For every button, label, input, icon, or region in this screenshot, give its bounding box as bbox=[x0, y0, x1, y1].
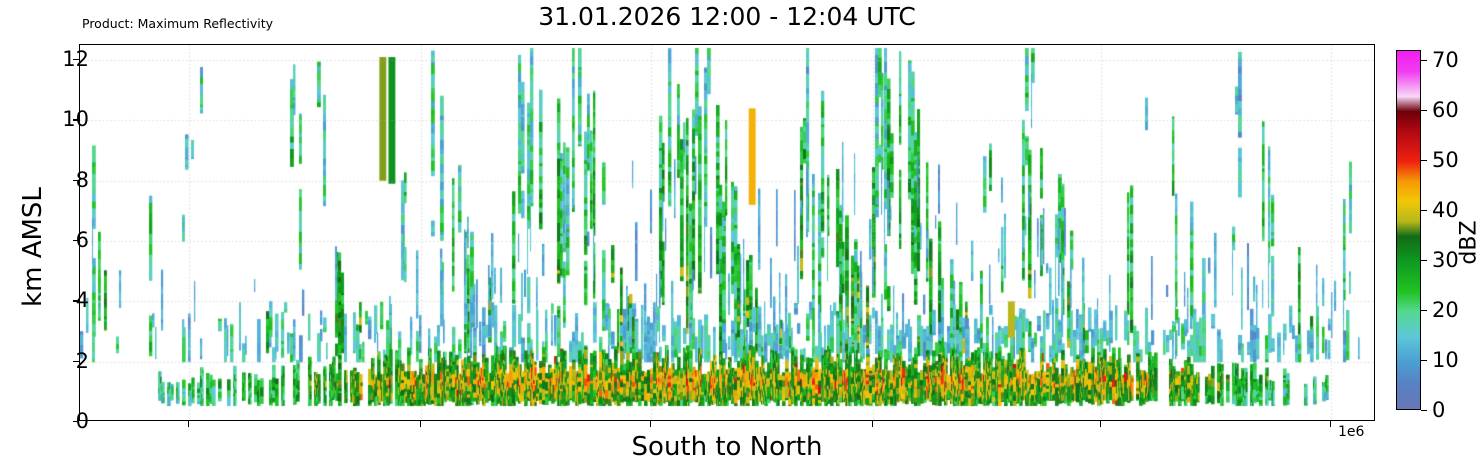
colorbar-tick-label: 10 bbox=[1432, 348, 1459, 372]
colorbar-tick-mark bbox=[1421, 410, 1427, 411]
colorbar-label: dBZ bbox=[1457, 163, 1482, 323]
x-tick-mark bbox=[1330, 421, 1331, 427]
plot-area bbox=[79, 44, 1375, 421]
colorbar-gradient-canvas bbox=[1397, 51, 1421, 410]
colorbar-tick-label: 60 bbox=[1432, 98, 1459, 122]
y-tick-mark bbox=[73, 59, 79, 60]
x-axis-label: South to North bbox=[79, 432, 1375, 462]
colorbar-tick-mark bbox=[1421, 310, 1427, 311]
colorbar-tick-mark bbox=[1421, 260, 1427, 261]
y-tick-mark bbox=[73, 119, 79, 120]
radar-reflectivity-figure: Product: Maximum Reflectivity 31.01.2026… bbox=[0, 0, 1482, 470]
x-tick-mark bbox=[420, 421, 421, 427]
y-tick-mark bbox=[73, 361, 79, 362]
colorbar-tick-mark bbox=[1421, 160, 1427, 161]
colorbar bbox=[1396, 50, 1421, 410]
colorbar-tick-label: 20 bbox=[1432, 298, 1459, 322]
colorbar-tick-mark bbox=[1421, 360, 1427, 361]
y-tick-mark bbox=[73, 421, 79, 422]
colorbar-tick-label: 50 bbox=[1432, 148, 1459, 172]
chart-title: 31.01.2026 12:00 - 12:04 UTC bbox=[79, 2, 1375, 31]
y-axis-label: km AMSL bbox=[18, 97, 48, 397]
x-tick-mark bbox=[650, 421, 651, 427]
colorbar-tick-label: 0 bbox=[1432, 398, 1445, 422]
x-axis-offset-label: 1e6 bbox=[1338, 424, 1364, 440]
colorbar-tick-label: 40 bbox=[1432, 198, 1459, 222]
x-tick-mark bbox=[872, 421, 873, 427]
reflectivity-curtain-canvas bbox=[80, 45, 1375, 421]
y-tick-mark bbox=[73, 240, 79, 241]
x-tick-mark bbox=[1100, 421, 1101, 427]
colorbar-tick-mark bbox=[1421, 110, 1427, 111]
x-tick-mark bbox=[188, 421, 189, 427]
y-tick-mark bbox=[73, 180, 79, 181]
y-tick-mark bbox=[73, 300, 79, 301]
colorbar-tick-label: 70 bbox=[1432, 48, 1459, 72]
colorbar-tick-mark bbox=[1421, 210, 1427, 211]
colorbar-tick-mark bbox=[1421, 60, 1427, 61]
colorbar-tick-label: 30 bbox=[1432, 248, 1459, 272]
